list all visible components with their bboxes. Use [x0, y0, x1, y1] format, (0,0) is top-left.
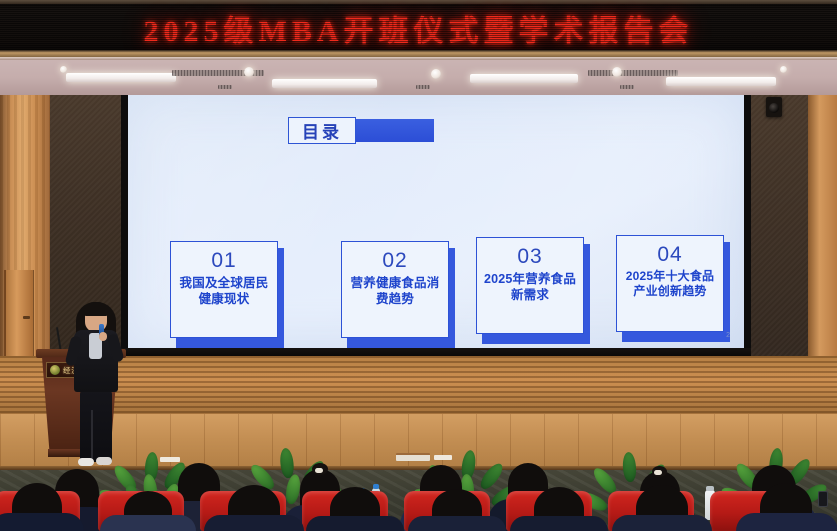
ceiling-vent-5	[620, 85, 634, 89]
section-title-accent-bar	[354, 119, 434, 142]
projection-screen[interactable]: 目录 01 我国及全球居民健康现状 02 营养健康食品消费趋势	[128, 93, 744, 349]
card-label: 2025年十大食品产业创新趋势	[617, 269, 723, 299]
agenda-cards: 01 我国及全球居民健康现状 02 营养健康食品消费趋势 03 2025	[128, 233, 744, 343]
audience-shoulders-front-7	[612, 515, 712, 531]
audience	[0, 470, 837, 531]
slide-page-number: 2	[726, 332, 730, 339]
ceiling-light-3	[470, 74, 578, 83]
card-label: 我国及全球居民健康现状	[171, 275, 277, 307]
ceiling-spotlight-1	[244, 67, 254, 77]
screen-bottom-frame	[121, 348, 751, 356]
auditorium-photo: 目录 01 我国及全球居民健康现状 02 营养健康食品消费趋势	[0, 0, 837, 531]
audience-hairtie-2	[654, 470, 662, 475]
school-emblem-icon	[50, 365, 60, 375]
agenda-card-4[interactable]: 04 2025年十大食品产业创新趋势	[616, 235, 724, 337]
ceiling-vent-2	[588, 70, 678, 76]
presenter-shoe-left	[78, 458, 94, 466]
audience-shoulders-front-4	[306, 516, 404, 531]
section-title: 目录	[302, 118, 342, 143]
ceiling-spotlight-2	[431, 69, 441, 79]
stage-paper-2	[396, 453, 430, 461]
ceiling-light-2	[272, 79, 377, 88]
audience-hairtie-1	[315, 468, 323, 473]
card-face: 03 2025年营养食品新需求	[476, 237, 584, 334]
stage-back-wall	[0, 356, 837, 416]
ceiling-spotlight-3	[612, 67, 622, 77]
ceiling-light-1	[66, 73, 176, 82]
card-number: 03	[517, 244, 542, 269]
card-number: 04	[657, 242, 682, 267]
presenter-leg-split	[91, 410, 93, 462]
card-label: 2025年营养食品新需求	[477, 271, 583, 303]
ceiling-edge	[0, 57, 837, 60]
ceiling-light-4	[666, 77, 776, 86]
presenter-legs	[80, 390, 112, 462]
presenter-hand	[99, 332, 107, 341]
ceiling-spotlight-5	[780, 66, 787, 73]
card-number: 01	[211, 248, 236, 273]
audience-shoulders-front-1	[0, 513, 84, 531]
audience-shoulders-front-6	[510, 516, 608, 531]
section-title-box: 目录	[288, 117, 356, 144]
agenda-card-1[interactable]: 01 我国及全球居民健康现状	[170, 241, 278, 343]
audience-shoulders-front-3	[204, 515, 304, 531]
ceiling-vent-3	[218, 85, 232, 89]
led-banner: 2025级MBA开班仪式暨学术报告会	[0, 0, 837, 57]
card-face: 02 营养健康食品消费趋势	[341, 241, 449, 338]
presenter-shoe-right	[96, 457, 112, 465]
card-number: 02	[382, 248, 407, 273]
slide-heading: 目录	[288, 117, 434, 144]
presenter-hair-top	[83, 302, 109, 316]
audience-shoulders-front-5	[408, 516, 506, 531]
card-label: 营养健康食品消费趋势	[342, 275, 448, 307]
wall-panel-right	[750, 95, 812, 365]
led-banner-text: 2025级MBA开班仪式暨学术报告会	[0, 6, 837, 50]
audience-phone	[818, 491, 828, 507]
card-face: 04 2025年十大食品产业创新趋势	[616, 235, 724, 332]
ceiling	[0, 57, 837, 95]
wall-speaker-icon	[766, 97, 782, 117]
slide-content: 目录 01 我国及全球居民健康现状 02 营养健康食品消费趋势	[128, 93, 744, 349]
wall-wood-right	[808, 95, 837, 380]
agenda-card-2[interactable]: 02 营养健康食品消费趋势	[341, 241, 449, 343]
agenda-card-3[interactable]: 03 2025年营养食品新需求	[476, 237, 584, 339]
ceiling-vent-4	[416, 85, 430, 89]
audience-shoulders-front-2	[100, 515, 196, 531]
audience-shoulders-front-8	[736, 513, 837, 531]
ceiling-spotlight-4	[60, 66, 67, 73]
card-face: 01 我国及全球居民健康现状	[170, 241, 278, 338]
